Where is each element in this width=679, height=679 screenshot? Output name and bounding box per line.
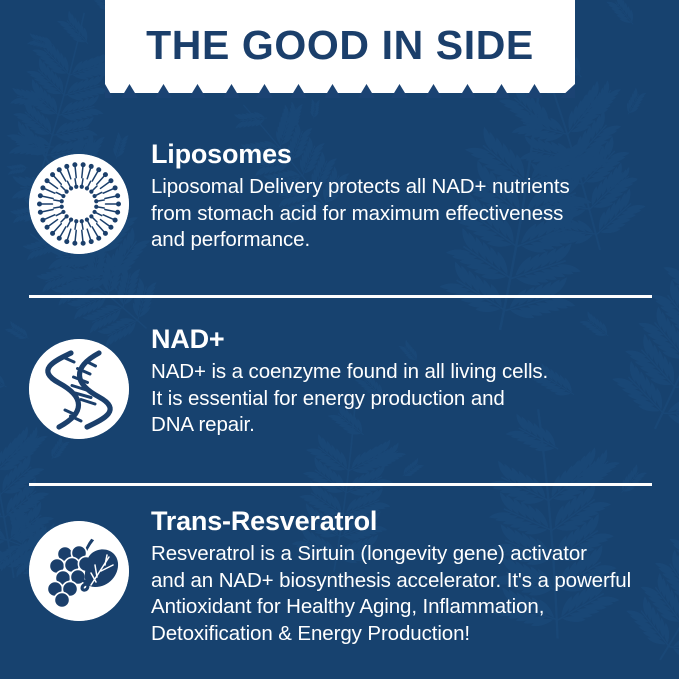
page-title: THE GOOD IN SIDE xyxy=(105,22,575,68)
banner-zigzag-edge xyxy=(105,84,575,98)
liposomes-body: Liposomal Delivery protects all NAD+ nut… xyxy=(151,174,663,254)
section-divider-2 xyxy=(29,483,652,486)
infographic-panel: THE GOOD IN SIDE xyxy=(0,0,679,679)
resveratrol-text-block: Trans-Resveratrol Resveratrol is a Sirtu… xyxy=(151,505,663,647)
section-divider-1 xyxy=(29,295,652,298)
resveratrol-body: Resveratrol is a Sirtuin (longevity gene… xyxy=(151,541,663,647)
nad-body: NAD+ is a coenzyme found in all living c… xyxy=(151,359,663,439)
nad-heading: NAD+ xyxy=(151,323,663,355)
liposomes-heading: Liposomes xyxy=(151,138,663,170)
resveratrol-heading: Trans-Resveratrol xyxy=(151,505,663,537)
liposomes-text-block: Liposomes Liposomal Delivery protects al… xyxy=(151,138,663,254)
header-banner: THE GOOD IN SIDE xyxy=(105,0,575,93)
liposome-icon xyxy=(29,154,129,254)
grapes-icon xyxy=(29,521,129,621)
dna-helix-icon xyxy=(29,339,129,439)
nad-text-block: NAD+ NAD+ is a coenzyme found in all liv… xyxy=(151,323,663,439)
